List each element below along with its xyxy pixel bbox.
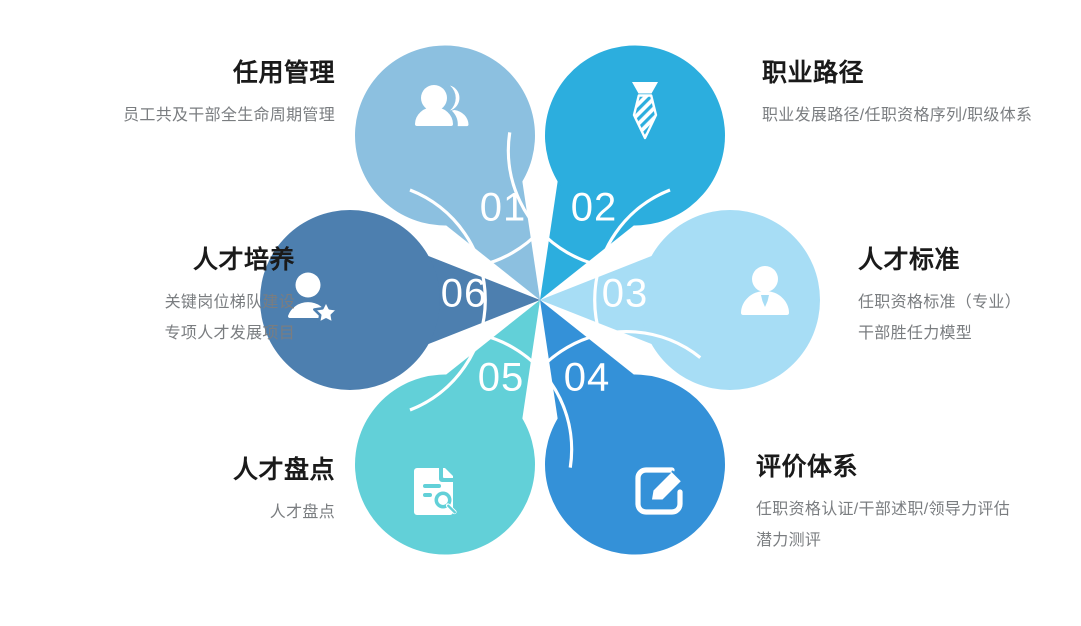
label-subtitle-06-1: 专项人才发展项目 — [40, 318, 295, 349]
label-subtitle-05-0: 人才盘点 — [90, 497, 335, 528]
petal-number-05: 05 — [478, 356, 525, 400]
label-title-02: 职业路径 — [762, 58, 1081, 89]
label-subtitle-04-1: 潜力测评 — [756, 525, 1081, 556]
petal-number-03: 03 — [602, 272, 649, 316]
label-block-03: 人才标准 任职资格标准（专业） 干部胜任力模型 — [858, 245, 1081, 350]
label-subtitle-03-1: 干部胜任力模型 — [858, 318, 1081, 349]
label-block-06: 人才培养 关键岗位梯队建设 专项人才发展项目 — [40, 245, 295, 350]
label-title-03: 人才标准 — [858, 245, 1081, 276]
label-title-01: 任用管理 — [30, 58, 335, 89]
document-search-icon — [414, 468, 455, 515]
petal-number-04: 04 — [564, 356, 611, 400]
label-block-05: 人才盘点 人才盘点 — [90, 455, 335, 528]
label-block-04: 评价体系 任职资格认证/干部述职/领导力评估 潜力测评 — [756, 452, 1081, 557]
label-title-06: 人才培养 — [40, 245, 295, 276]
petal-number-02: 02 — [571, 186, 618, 230]
label-title-04: 评价体系 — [756, 452, 1081, 483]
label-subtitle-06-0: 关键岗位梯队建设 — [40, 287, 295, 318]
petal-number-01: 01 — [480, 186, 527, 230]
label-subtitle-01-0: 员工共及干部全生命周期管理 — [30, 100, 335, 131]
label-subtitle-04-0: 任职资格认证/干部述职/领导力评估 — [756, 494, 1081, 525]
label-subtitle-03-0: 任职资格标准（专业） — [858, 287, 1081, 318]
label-subtitle-02-0: 职业发展路径/任职资格序列/职级体系 — [762, 100, 1081, 131]
petal-number-06: 06 — [441, 272, 488, 316]
diagram-canvas: 01 02 — [0, 0, 1081, 626]
label-block-02: 职业路径 职业发展路径/任职资格序列/职级体系 — [762, 58, 1081, 131]
label-block-01: 任用管理 员工共及干部全生命周期管理 — [30, 58, 335, 131]
label-title-05: 人才盘点 — [90, 455, 335, 486]
